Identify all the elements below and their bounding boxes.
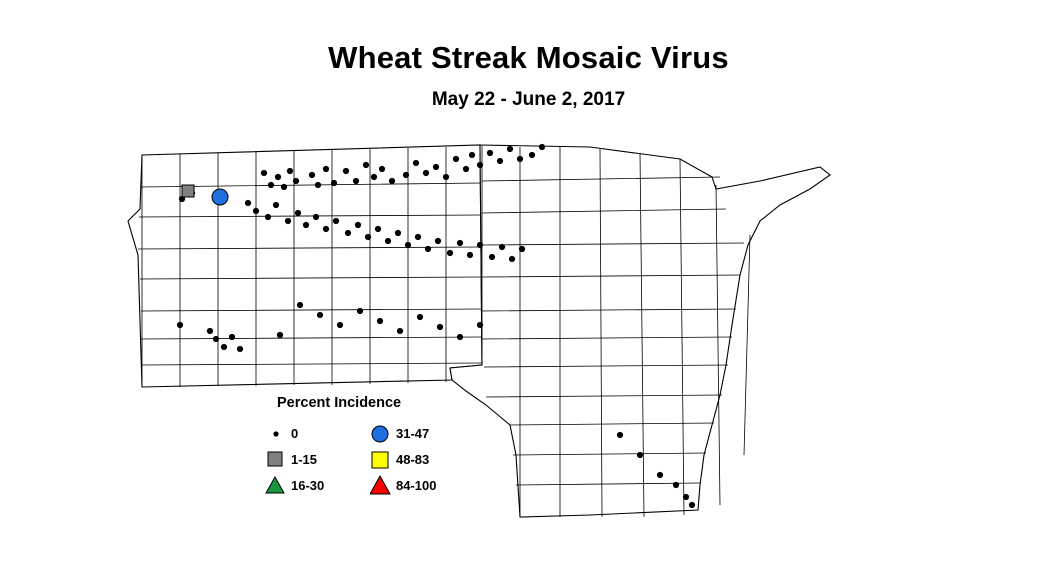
map-data-point	[353, 178, 359, 184]
map-data-point	[397, 328, 403, 334]
map-data-point	[657, 472, 663, 478]
map-data-point	[507, 146, 513, 152]
map-data-point	[297, 302, 303, 308]
map-data-point	[477, 162, 483, 168]
map-data-point	[443, 174, 449, 180]
map-data-point	[517, 156, 523, 162]
map-data-point	[405, 242, 411, 248]
map-data-point	[519, 246, 525, 252]
map-data-point	[357, 308, 363, 314]
map-data-point	[509, 256, 515, 262]
map-data-point	[673, 482, 679, 488]
map-data-point	[365, 234, 371, 240]
blue-circle-icon	[370, 423, 392, 445]
page-subtitle: May 22 - June 2, 2017	[0, 89, 1057, 111]
map-data-point	[447, 250, 453, 256]
map-data-point	[385, 238, 391, 244]
map-data-point	[285, 218, 291, 224]
map-data-point	[253, 208, 259, 214]
map-data-point	[395, 230, 401, 236]
map-data-point	[323, 166, 329, 172]
map-data-point	[453, 156, 459, 162]
map-data-point	[637, 452, 643, 458]
map-data-point	[213, 336, 219, 342]
map-data-point	[477, 242, 483, 248]
map-data-point	[303, 222, 309, 228]
green-triangle-icon	[265, 475, 287, 497]
map-page: Wheat Streak Mosaic Virus May 22 - June …	[0, 0, 1057, 562]
legend-label-5: 84-100	[396, 478, 436, 493]
legend-label-3: 31-47	[396, 426, 429, 441]
map-data-point	[281, 184, 287, 190]
legend: Percent Incidence 0 1-15 16-30 31-47	[265, 395, 515, 505]
map-data-point	[617, 432, 623, 438]
map-data-point	[403, 172, 409, 178]
small-black-dot-icon	[265, 423, 287, 445]
map-data-point	[435, 238, 441, 244]
legend-label-4: 48-83	[396, 452, 429, 467]
map-data-point	[539, 144, 545, 150]
map-data-point	[337, 322, 343, 328]
map-data-point	[293, 178, 299, 184]
map-data-point	[287, 168, 293, 174]
map-data-point	[245, 200, 251, 206]
map-data-point	[413, 160, 419, 166]
map-data-point	[529, 152, 535, 158]
map-data-point	[389, 178, 395, 184]
map-data-point	[177, 322, 183, 328]
map-data-point	[237, 346, 243, 352]
map-data-point	[463, 166, 469, 172]
map-data-point	[333, 218, 339, 224]
map-data-point	[355, 222, 361, 228]
map-data-point	[417, 314, 423, 320]
map-data-point	[331, 180, 337, 186]
map-data-point	[487, 150, 493, 156]
map-data-point	[467, 252, 473, 258]
map-data-point	[273, 202, 279, 208]
map-data-point	[317, 312, 323, 318]
map-data-point	[433, 164, 439, 170]
map-data-point-gray-square	[182, 185, 194, 197]
map-data-point	[379, 166, 385, 172]
map-data-point	[425, 246, 431, 252]
map-data-point	[315, 182, 321, 188]
map-data-point	[689, 502, 695, 508]
map-data-point	[457, 334, 463, 340]
map-data-point	[457, 240, 463, 246]
map-data-point	[295, 210, 301, 216]
map-data-point	[415, 234, 421, 240]
map-data-point	[683, 494, 689, 500]
red-triangle-icon	[370, 475, 392, 497]
legend-label-2: 16-30	[291, 478, 324, 493]
page-title: Wheat Streak Mosaic Virus	[0, 40, 1057, 76]
map-data-point	[437, 324, 443, 330]
map-data-point	[229, 334, 235, 340]
map-data-point	[277, 332, 283, 338]
legend-label-0: 0	[291, 426, 298, 441]
map-data-point	[489, 254, 495, 260]
map-data-point	[265, 214, 271, 220]
map-data-point	[469, 152, 475, 158]
map-data-point	[375, 226, 381, 232]
map-data-point	[345, 230, 351, 236]
map-data-point	[309, 172, 315, 178]
map-data-point	[207, 328, 213, 334]
map-data-point	[275, 174, 281, 180]
gray-square-icon	[265, 449, 287, 471]
map-data-point	[221, 344, 227, 350]
map-data-point	[343, 168, 349, 174]
map-data-point	[371, 174, 377, 180]
map-data-point	[377, 318, 383, 324]
map-data-point	[477, 322, 483, 328]
map-data-point	[313, 214, 319, 220]
map-data-point	[268, 182, 274, 188]
map-data-point	[323, 226, 329, 232]
legend-title: Percent Incidence	[277, 395, 401, 411]
map-data-point	[423, 170, 429, 176]
legend-label-1: 1-15	[291, 452, 317, 467]
map-data-point	[261, 170, 267, 176]
map-data-point	[499, 244, 505, 250]
map-data-point	[363, 162, 369, 168]
map-data-point	[497, 158, 503, 164]
map-data-point-blue-circle	[212, 189, 228, 205]
yellow-square-icon	[370, 449, 392, 471]
